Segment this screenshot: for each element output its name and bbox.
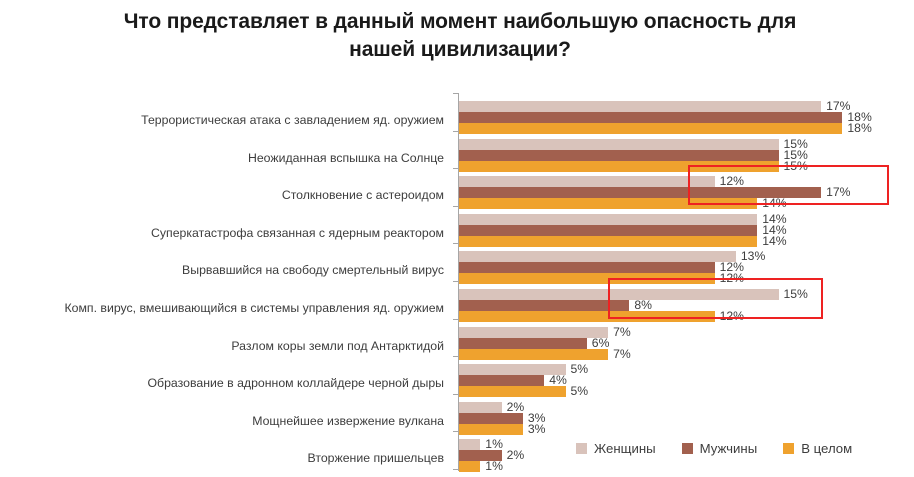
bar-w — [459, 214, 757, 225]
bar-m — [459, 150, 779, 161]
bar-w — [459, 176, 715, 187]
axis-tick — [453, 206, 458, 207]
data-label: 12% — [720, 174, 744, 188]
legend-swatch-icon — [682, 443, 693, 454]
legend-label: В целом — [801, 441, 852, 456]
category-axis-labels: Террористическая атака с завладением яд.… — [0, 93, 452, 471]
data-label: 2% — [507, 448, 525, 462]
legend-swatch-icon — [783, 443, 794, 454]
data-label: 8% — [634, 298, 652, 312]
category-label: Суперкатастрофа связанная с ядерным реак… — [151, 226, 444, 240]
data-label: 18% — [847, 121, 871, 135]
legend-item[interactable]: Женщины — [576, 441, 656, 456]
data-label: 5% — [571, 384, 589, 398]
data-label: 7% — [613, 347, 631, 361]
bar-m — [459, 300, 629, 311]
bar-t — [459, 424, 523, 435]
bar-t — [459, 311, 715, 322]
bar-w — [459, 251, 736, 262]
bar-m — [459, 112, 842, 123]
axis-tick — [453, 431, 458, 432]
bar-t — [459, 386, 566, 397]
bar-w — [459, 139, 779, 150]
bar-t — [459, 461, 480, 472]
axis-tick — [453, 243, 458, 244]
axis-tick — [453, 469, 458, 470]
category-label: Столкновение с астероидом — [282, 188, 444, 202]
bar-m — [459, 375, 544, 386]
data-label: 14% — [762, 196, 786, 210]
bar-t — [459, 236, 757, 247]
plot-area: 17%18%18%15%15%15%12%17%14%14%14%14%13%1… — [458, 93, 914, 471]
category-label: Неожиданная вспышка на Солнце — [248, 151, 444, 165]
bar-t — [459, 349, 608, 360]
axis-tick — [453, 93, 458, 94]
data-label: 3% — [528, 422, 546, 436]
data-label: 1% — [485, 437, 503, 451]
category-label: Образование в адронном коллайдере черной… — [147, 376, 444, 390]
category-label: Террористическая атака с завладением яд.… — [141, 113, 444, 127]
bar-m — [459, 262, 715, 273]
data-label: 4% — [549, 373, 567, 387]
data-label: 14% — [762, 234, 786, 248]
data-label: 2% — [507, 400, 525, 414]
bar-w — [459, 101, 821, 112]
axis-tick — [453, 394, 458, 395]
bar-t — [459, 123, 842, 134]
chart-title: Что представляет в данный момент наиболь… — [120, 8, 800, 63]
data-label: 5% — [571, 362, 589, 376]
bar-w — [459, 327, 608, 338]
data-label: 17% — [826, 185, 850, 199]
data-label: 15% — [784, 159, 808, 173]
data-label: 7% — [613, 325, 631, 339]
legend-label: Женщины — [594, 441, 656, 456]
bar-w — [459, 402, 502, 413]
bar-m — [459, 413, 523, 424]
bar-t — [459, 198, 757, 209]
category-label: Вырвавшийся на свободу смертельный вирус — [182, 263, 444, 277]
data-label: 15% — [784, 287, 808, 301]
category-label: Мощнейшее извержение вулкана — [252, 414, 444, 428]
data-label: 12% — [720, 271, 744, 285]
axis-tick — [453, 168, 458, 169]
category-label: Разлом коры земли под Антарктидой — [231, 339, 444, 353]
legend-label: Мужчины — [700, 441, 758, 456]
legend-item[interactable]: Мужчины — [682, 441, 758, 456]
legend-item[interactable]: В целом — [783, 441, 852, 456]
axis-tick — [453, 319, 458, 320]
data-label: 1% — [485, 459, 503, 473]
bar-w — [459, 439, 480, 450]
axis-tick — [453, 131, 458, 132]
category-label: Комп. вирус, вмешивающийся в системы упр… — [64, 301, 444, 315]
axis-tick — [453, 281, 458, 282]
bar-t — [459, 161, 779, 172]
category-label: Вторжение пришельцев — [308, 451, 444, 465]
data-label: 13% — [741, 249, 765, 263]
axis-tick — [453, 356, 458, 357]
bar-w — [459, 289, 779, 300]
legend-swatch-icon — [576, 443, 587, 454]
data-label: 6% — [592, 336, 610, 350]
data-label: 12% — [720, 309, 744, 323]
bar-t — [459, 273, 715, 284]
bar-m — [459, 338, 587, 349]
chart-legend: ЖенщиныМужчиныВ целом — [576, 438, 852, 458]
bar-chart: Что представляет в данный момент наиболь… — [0, 0, 914, 477]
bar-m — [459, 225, 757, 236]
